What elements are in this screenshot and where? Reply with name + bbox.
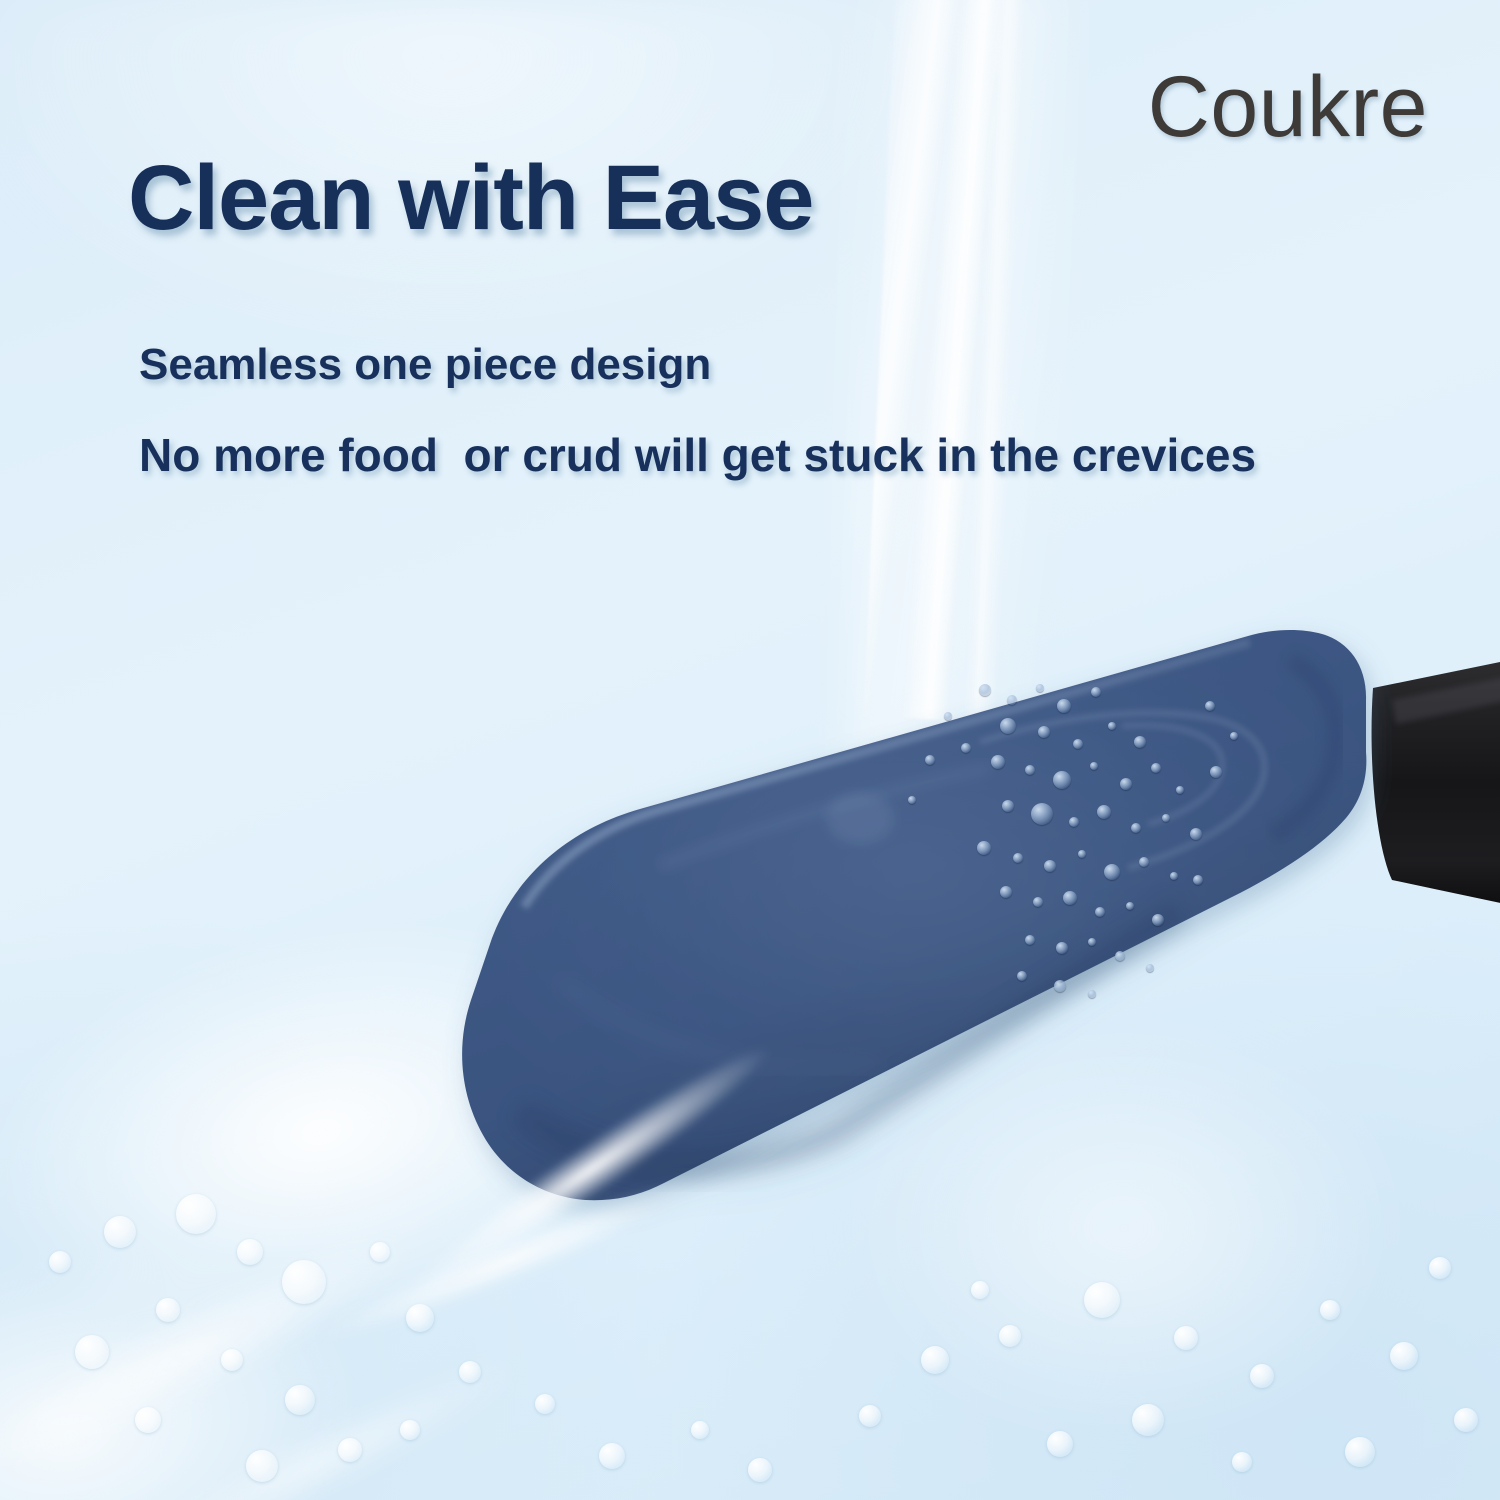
droplet-icon <box>1033 897 1043 907</box>
droplet-icon <box>1056 942 1068 954</box>
droplet-icon <box>1000 718 1016 734</box>
droplet-icon <box>979 684 991 696</box>
droplet-icon <box>1152 914 1164 926</box>
droplet-icon <box>1007 695 1017 705</box>
droplet-icon <box>1170 872 1178 880</box>
bubble-icon <box>748 1458 772 1482</box>
droplet-icon <box>1063 891 1077 905</box>
droplet-icon <box>1002 800 1014 812</box>
brand-logo: Coukre <box>1148 58 1428 157</box>
droplet-icon <box>991 755 1005 769</box>
bubble-icon <box>246 1450 278 1482</box>
feature-line-1: Seamless one piece design <box>139 340 711 390</box>
bubble-icon <box>1454 1408 1478 1432</box>
droplet-icon <box>1069 817 1079 827</box>
droplet-icon <box>908 796 916 804</box>
bubble-icon <box>1429 1257 1451 1279</box>
bubble-icon <box>599 1443 625 1469</box>
droplet-icon <box>1091 687 1101 697</box>
bubble-icon <box>1174 1326 1198 1350</box>
droplet-icon <box>1036 684 1044 692</box>
droplet-icon <box>1193 875 1203 885</box>
water-splash-secondary-icon <box>202 996 819 1500</box>
feature-line-2: No more food or crud will get stuck in t… <box>139 428 1256 482</box>
bubble-icon <box>104 1216 136 1248</box>
bubble-icon <box>459 1361 481 1383</box>
bubble-icon <box>535 1394 555 1414</box>
droplet-icon <box>1088 938 1096 946</box>
bubble-icon <box>859 1405 881 1427</box>
product-marketing-image: Coukre Clean with Ease Seamless one piec… <box>0 0 1500 1500</box>
droplet-icon <box>1054 980 1066 992</box>
spatula-handle <box>1372 660 1500 905</box>
droplet-icon <box>1038 726 1050 738</box>
water-pool <box>0 773 1039 1500</box>
bubble-icon <box>1047 1431 1073 1457</box>
bubble-icon <box>1320 1300 1340 1320</box>
droplet-icon <box>1120 778 1132 790</box>
bubble-icon <box>999 1325 1021 1347</box>
water-splash-icon <box>257 851 923 1490</box>
droplet-icon <box>1090 762 1098 770</box>
bubble-icon <box>1232 1452 1252 1472</box>
water-swirl-bottom-left <box>0 995 675 1500</box>
bubble-icon <box>921 1346 949 1374</box>
bubble-icon <box>406 1304 434 1332</box>
bubble-icon <box>370 1242 390 1262</box>
bubble-icon <box>285 1385 315 1415</box>
droplet-icon <box>1230 732 1238 740</box>
droplet-icon <box>1176 786 1184 794</box>
bubble-icon <box>338 1438 362 1462</box>
droplet-icon <box>1139 857 1149 867</box>
bubble-icon <box>75 1335 109 1369</box>
droplet-icon <box>1053 771 1071 789</box>
droplet-icon <box>1134 736 1146 748</box>
droplet-icon <box>1104 864 1120 880</box>
droplet-icon <box>1000 886 1012 898</box>
water-stream-glow-icon <box>840 0 1070 800</box>
droplet-icon <box>1057 699 1071 713</box>
bubble-icon <box>1390 1342 1418 1370</box>
page-title: Clean with Ease <box>128 146 813 251</box>
droplet-icon <box>961 743 971 753</box>
bubble-icon <box>400 1420 420 1440</box>
droplet-icon <box>1088 990 1096 998</box>
droplet-icon <box>1126 902 1134 910</box>
droplet-icon <box>1205 701 1215 711</box>
droplet-icon <box>1097 805 1111 819</box>
droplet-icon <box>1073 739 1083 749</box>
droplet-icon <box>1025 935 1035 945</box>
bubble-icon <box>971 1281 989 1299</box>
bubble-icon <box>1132 1404 1164 1436</box>
bubble-icon <box>156 1298 180 1322</box>
droplet-icon <box>1162 814 1170 822</box>
bubble-icon <box>49 1251 71 1273</box>
bubble-icon <box>1084 1282 1120 1318</box>
droplet-icon <box>1078 850 1086 858</box>
bubble-icon <box>691 1421 709 1439</box>
water-stream-icon <box>863 0 1046 723</box>
bubble-icon <box>135 1407 161 1433</box>
bubble-icon <box>1345 1437 1375 1467</box>
droplet-icon <box>1190 828 1202 840</box>
spatula-blade <box>462 630 1366 1200</box>
droplet-icon <box>1151 763 1161 773</box>
droplet-icon <box>1131 823 1141 833</box>
droplet-icon <box>1025 765 1035 775</box>
droplet-icon <box>1210 766 1222 778</box>
droplet-icon <box>1044 860 1056 872</box>
droplet-icon <box>1108 722 1116 730</box>
bubble-icon <box>282 1260 326 1304</box>
droplet-icon <box>977 841 991 855</box>
droplet-icon <box>1017 971 1027 981</box>
bubble-icon <box>1250 1364 1274 1388</box>
droplet-icon <box>925 755 935 765</box>
droplet-icon <box>1031 803 1053 825</box>
droplet-icon <box>1146 964 1154 972</box>
droplet-icon <box>944 712 952 720</box>
droplet-icon <box>1013 853 1023 863</box>
water-sheen-right <box>820 980 1500 1500</box>
bubble-icon <box>176 1194 216 1234</box>
droplet-icon <box>1095 907 1105 917</box>
bubble-icon <box>221 1349 243 1371</box>
droplet-icon <box>1115 951 1125 961</box>
bubble-icon <box>237 1239 263 1265</box>
